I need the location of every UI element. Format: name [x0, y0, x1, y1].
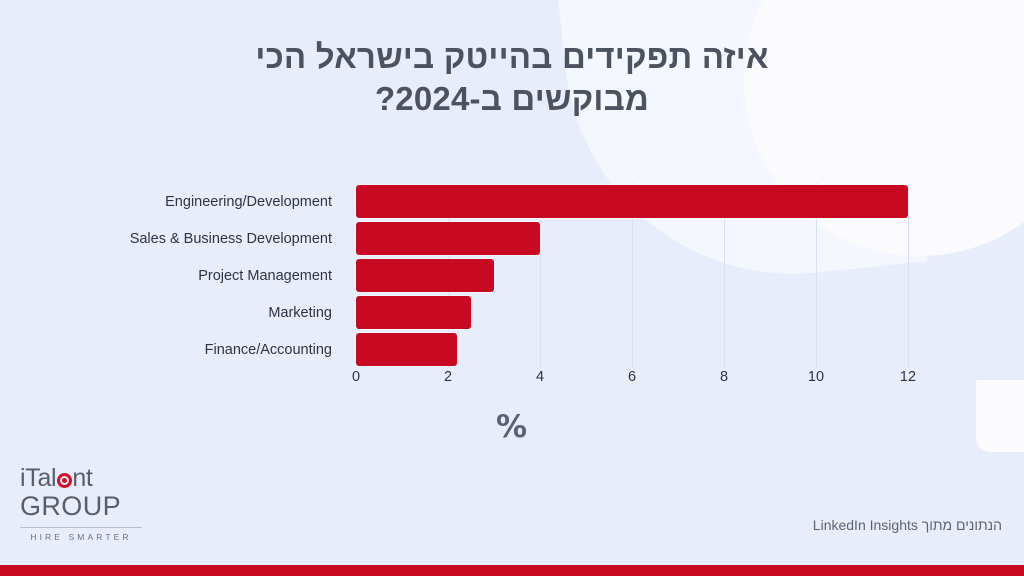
bottom-accent-bar [0, 565, 1024, 576]
logo-wordmark-line-2: GROUP [20, 492, 142, 522]
logo-circle-mark-icon [57, 473, 72, 488]
value-axis-tick-label: 8 [720, 369, 728, 385]
bar-row [356, 183, 908, 220]
value-axis-tick-label: 10 [808, 369, 824, 385]
value-axis-tick-label: 12 [900, 369, 916, 385]
logo-text-part1: iTal [20, 466, 56, 491]
category-label: Marketing [0, 294, 344, 331]
slide-title-line-1: איזה תפקידים בהייטק בישראל הכי [150, 36, 874, 78]
category-label: Project Management [0, 257, 344, 294]
bar [356, 222, 540, 255]
data-source-attribution: הנתונים מתוך LinkedIn Insights [813, 517, 1002, 533]
value-axis-tick-label: 4 [536, 369, 544, 385]
bar [356, 185, 908, 218]
category-label: Sales & Business Development [0, 220, 344, 257]
brand-logo: iTal nt GROUP HIRE SMARTER [20, 466, 142, 542]
category-axis-labels: Engineering/DevelopmentSales & Business … [0, 183, 344, 368]
slide-title-line-2: מבוקשים ב-2024? [150, 78, 874, 120]
bar-row [356, 331, 908, 368]
bar-row [356, 257, 908, 294]
slide-canvas: איזה תפקידים בהייטק בישראל הכי מבוקשים ב… [0, 0, 1024, 576]
category-label: Engineering/Development [0, 183, 344, 220]
bar-series [356, 183, 908, 368]
bar-row [356, 294, 908, 331]
bar [356, 296, 471, 329]
logo-tagline: HIRE SMARTER [20, 532, 142, 542]
value-axis-tick-label: 0 [352, 369, 360, 385]
bar-row [356, 220, 908, 257]
value-axis-tick-label: 2 [444, 369, 452, 385]
slide-title: איזה תפקידים בהייטק בישראל הכי מבוקשים ב… [0, 36, 1024, 120]
value-axis-tick-label: 6 [628, 369, 636, 385]
plot-area [356, 183, 908, 368]
logo-divider [20, 527, 142, 528]
bar-chart: Engineering/DevelopmentSales & Business … [0, 183, 1024, 383]
bar [356, 259, 494, 292]
bar [356, 333, 457, 366]
logo-text-part2: nt [72, 466, 92, 491]
value-axis-ticks: 024681012 [356, 369, 908, 395]
axis-unit-label: % [0, 409, 1024, 445]
category-label: Finance/Accounting [0, 331, 344, 368]
logo-wordmark-line-1: iTal nt [20, 466, 142, 491]
gridline [908, 183, 909, 368]
